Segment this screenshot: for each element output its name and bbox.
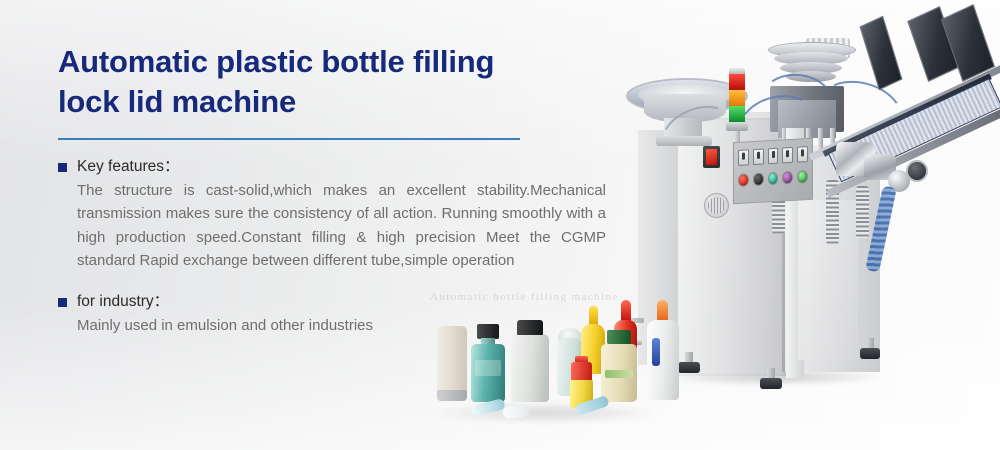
leveling-foot xyxy=(678,362,700,373)
product-banner: Automatic plastic bottle filling lock li… xyxy=(0,0,1000,450)
bullet-row: Key features： xyxy=(58,157,606,176)
push-button-red-icon xyxy=(738,173,749,187)
toggle-switch-icon xyxy=(753,149,764,166)
push-button-green-icon xyxy=(797,170,808,184)
cream-bottle-label xyxy=(605,370,633,378)
drive-roller xyxy=(906,160,928,182)
frosted-bottle-body xyxy=(511,334,549,402)
toggle-switch-icon xyxy=(782,147,793,164)
feature-paragraph: The structure is cast-solid,which makes … xyxy=(77,179,606,273)
toggle-switch-icon xyxy=(738,149,749,166)
page-title: Automatic plastic bottle filling lock li… xyxy=(58,42,558,121)
feature-block-for-industry: for industry： Mainly used in emulsion an… xyxy=(58,292,606,337)
feature-label: Key features： xyxy=(77,157,180,176)
push-button-black-icon xyxy=(753,173,764,187)
text-column: Automatic plastic bottle filling lock li… xyxy=(58,42,606,337)
feature-paragraph: Mainly used in emulsion and other indust… xyxy=(77,314,606,337)
white-bottle-orange-tip xyxy=(657,300,668,322)
signal-light-amber-icon xyxy=(729,90,745,106)
signal-light-red-icon xyxy=(729,74,745,90)
bullet-row: for industry： xyxy=(58,292,606,311)
feature-label: for industry： xyxy=(77,292,169,311)
spray-bottle-head xyxy=(571,362,592,382)
teal-bottle-label xyxy=(475,360,501,376)
bellows-spring xyxy=(856,186,869,238)
square-bullet-icon xyxy=(58,298,67,307)
title-divider xyxy=(58,138,520,140)
magazine-plate xyxy=(859,16,902,91)
feature-block-key-features: Key features： The structure is cast-soli… xyxy=(58,157,606,272)
bottles-shadow xyxy=(433,402,659,424)
cream-bottle-green-cap xyxy=(607,330,631,344)
leveling-foot xyxy=(760,378,782,389)
push-button-green-icon xyxy=(768,172,779,186)
toggle-switch-icon xyxy=(797,146,808,163)
white-bottle-blue-label xyxy=(652,338,660,366)
push-button-purple-icon xyxy=(782,171,793,185)
red-bottle-tip xyxy=(621,300,631,322)
beige-tube-cap xyxy=(437,390,467,401)
fan-vent-icon xyxy=(704,193,729,218)
emergency-stop-switch xyxy=(703,146,720,168)
leveling-foot xyxy=(860,348,880,359)
toggle-switch-icon xyxy=(768,148,779,165)
square-bullet-icon xyxy=(58,163,67,172)
